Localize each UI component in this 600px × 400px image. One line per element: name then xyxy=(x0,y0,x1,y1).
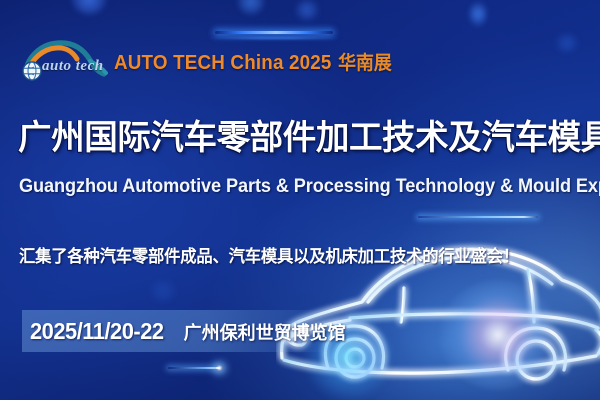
bokeh-dot xyxy=(238,0,264,14)
tagline-chinese: 汇集了各种汽车零部件成品、汽车模具以及机床加工技术的行业盛会！ xyxy=(19,242,519,267)
event-banner: auto tech AUTO TECH China 2025 华南展 广州国际汽… xyxy=(0,0,600,400)
bokeh-dot xyxy=(556,34,578,52)
event-venue: 广州保利世贸博览馆 xyxy=(184,319,346,345)
event-date: 2025/11/20-22 xyxy=(30,318,164,345)
auto-tech-logo: auto tech xyxy=(16,36,108,86)
event-title: AUTO TECH China 2025 华南展 xyxy=(114,48,392,75)
bokeh-dot xyxy=(150,280,176,302)
headline-chinese: 广州国际汽车零部件加工技术及汽车模具展览会 xyxy=(18,118,576,158)
headlight-glow xyxy=(438,280,558,390)
light-streak-icon xyxy=(418,216,538,218)
event-title-en: AUTO TECH China 2025 xyxy=(114,52,332,75)
logo-wordmark: auto tech xyxy=(42,58,104,75)
light-streak-icon xyxy=(168,367,220,369)
banner-header: auto tech AUTO TECH China 2025 华南展 xyxy=(16,36,409,86)
bokeh-dot xyxy=(470,2,486,26)
date-venue-band: 2025/11/20-22 广州保利世贸博览馆 xyxy=(22,310,340,352)
globe-icon xyxy=(23,62,41,80)
subtitle-english: Guangzhou Automotive Parts & Processing … xyxy=(19,176,600,198)
event-title-cn: 华南展 xyxy=(338,48,392,75)
bokeh-dot xyxy=(72,0,106,14)
light-streak-icon xyxy=(215,31,333,34)
bokeh-dot xyxy=(296,0,318,20)
light-spark-icon xyxy=(216,365,223,371)
